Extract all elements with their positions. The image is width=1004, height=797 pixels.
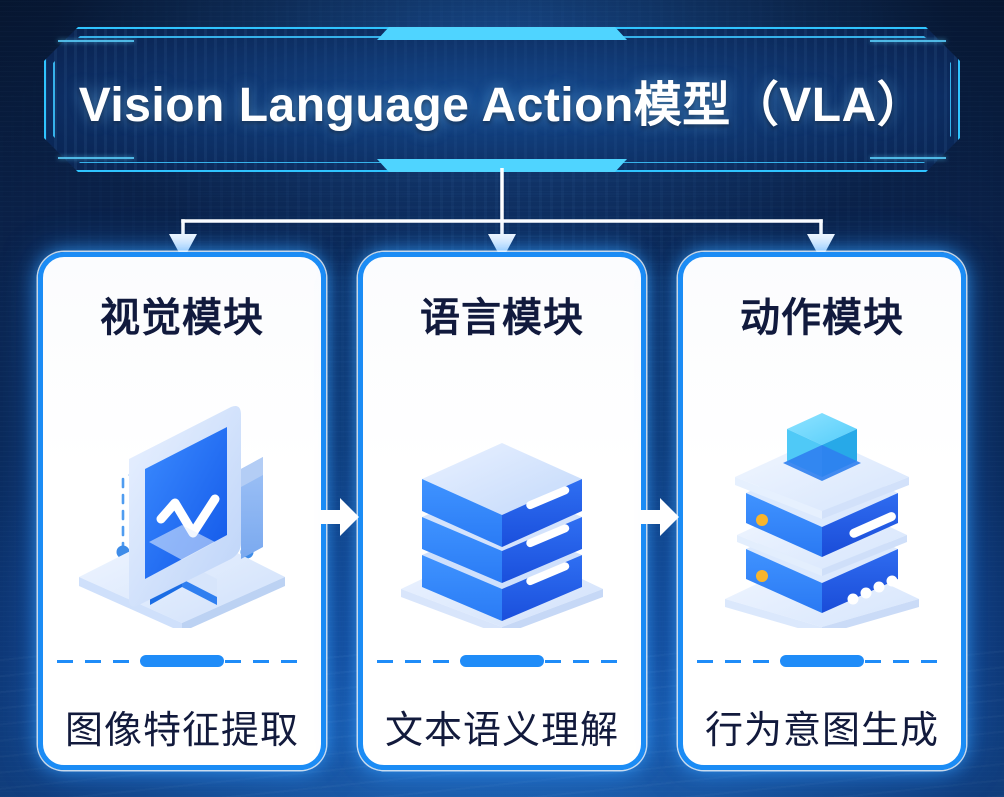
- divider-center-pill: [140, 655, 224, 667]
- module-card-language[interactable]: 语言模块: [358, 252, 646, 770]
- card-divider-language: [377, 655, 627, 667]
- title-banner: Vision Language Action模型（VLA）: [44, 27, 960, 172]
- card-divider-vision: [57, 655, 307, 667]
- page-title: Vision Language Action模型（VLA）: [44, 27, 960, 172]
- card-title-vision: 视觉模块: [43, 285, 321, 343]
- monitor-waveform-icon: [43, 365, 321, 645]
- flow-arrow-language-to-action: [636, 494, 682, 540]
- card-title-language: 语言模块: [363, 285, 641, 343]
- module-card-row: 视觉模块: [0, 252, 1004, 772]
- infographic-canvas: Vision Language Action模型（VLA） 视觉模块: [0, 0, 1004, 797]
- card-label-language: 文本语义理解: [363, 699, 641, 754]
- connector-tree: [0, 168, 1004, 260]
- card-divider-action: [697, 655, 947, 667]
- flow-arrow-vision-to-language: [316, 494, 362, 540]
- module-card-action[interactable]: 动作模块: [678, 252, 966, 770]
- card-title-action: 动作模块: [683, 285, 961, 343]
- divider-center-pill: [780, 655, 864, 667]
- divider-center-pill: [460, 655, 544, 667]
- card-label-action: 行为意图生成: [683, 699, 961, 754]
- database-stack-icon: [363, 365, 641, 645]
- server-cube-icon: [683, 365, 961, 645]
- card-label-vision: 图像特征提取: [43, 699, 321, 754]
- module-card-vision[interactable]: 视觉模块: [38, 252, 326, 770]
